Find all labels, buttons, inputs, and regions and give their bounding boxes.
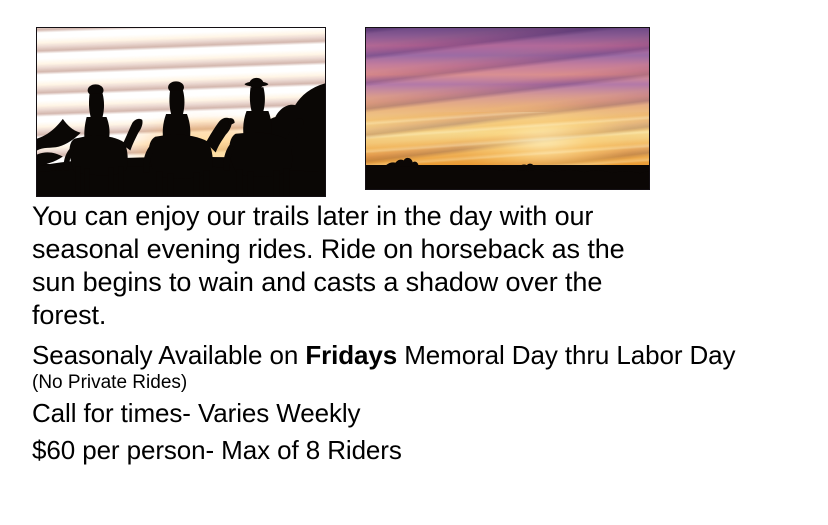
intro-paragraph: You can enjoy our trails later in the da… (0, 200, 672, 332)
call-for-times-line: Call for times- Varies Weekly (0, 398, 828, 429)
evening-sky-sunset-photo (365, 27, 650, 190)
text-block: You can enjoy our trails later in the da… (0, 200, 828, 466)
availability-prefix: Seasonaly Available on (32, 340, 305, 370)
evening-rides-page: You can enjoy our trails later in the da… (0, 0, 828, 525)
treeline-silhouette-icon (366, 28, 649, 189)
evening-sky-photo-canvas (366, 28, 649, 189)
horseback-riders-sunset-photo (36, 27, 326, 197)
pricing-line: $60 per person- Max of 8 Riders (0, 435, 828, 466)
availability-line: Seasonaly Available on Fridays Memoral D… (0, 340, 828, 371)
horseback-riders-photo-canvas (37, 28, 325, 196)
availability-suffix: Memoral Day thru Labor Day (397, 340, 735, 370)
photo-row (0, 0, 828, 200)
availability-day-emphasis: Fridays (305, 340, 397, 370)
private-rides-note: (No Private Rides) (0, 371, 828, 394)
riders-silhouette-icon (37, 28, 325, 196)
